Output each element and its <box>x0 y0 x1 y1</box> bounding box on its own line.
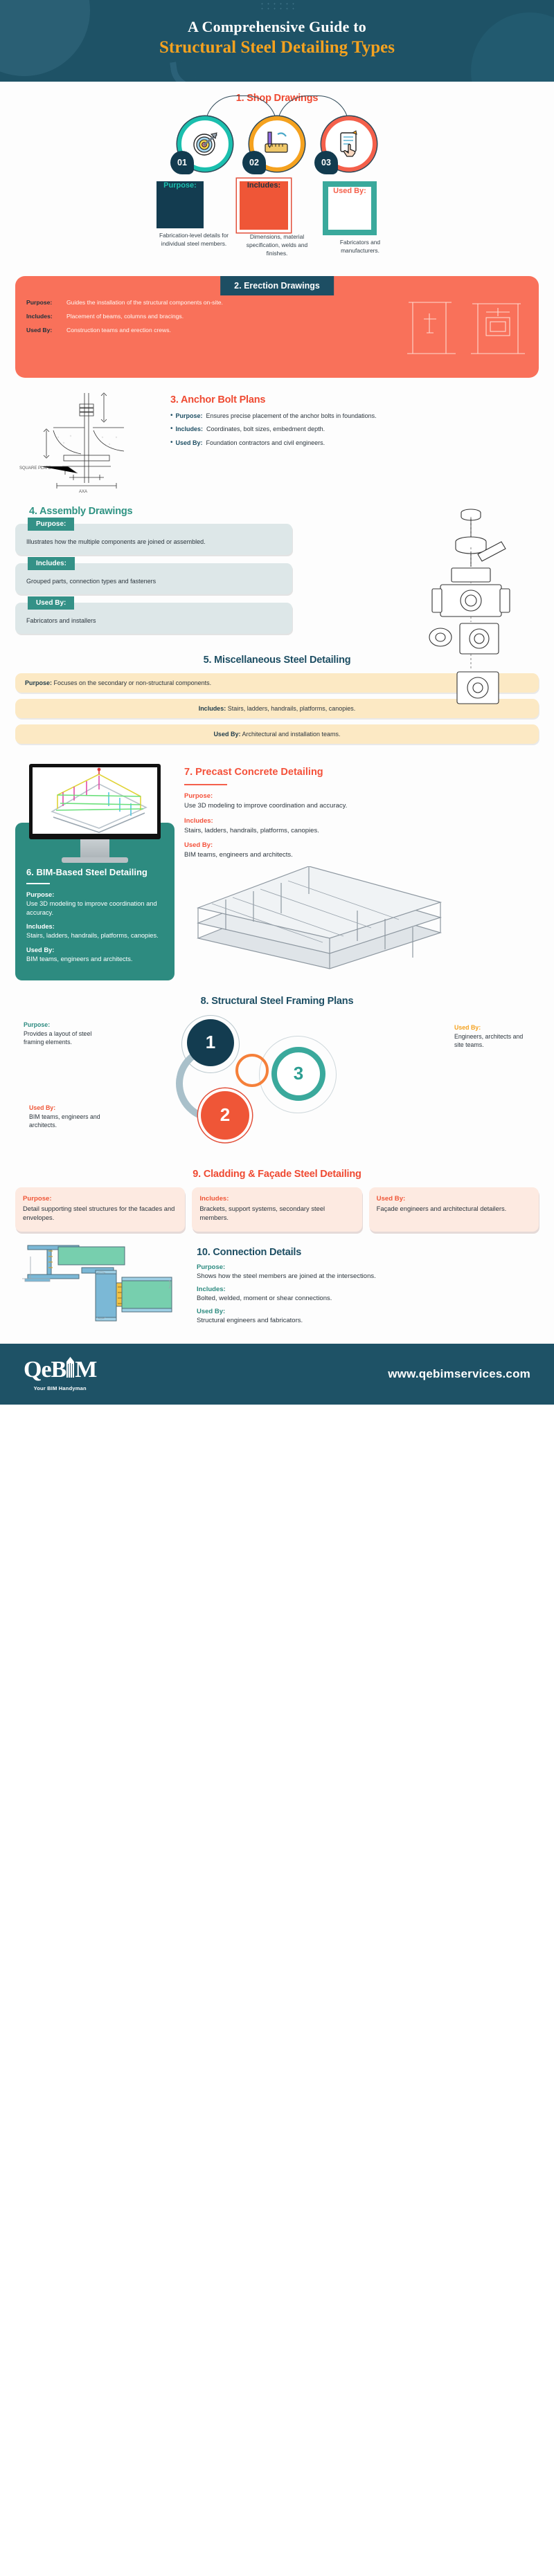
erection-row-usedby: Used By: Construction teams and erection… <box>26 326 396 334</box>
anchor-bullet-purpose: • Purpose: Ensures precise placement of … <box>170 412 539 421</box>
col-text-includes: Dimensions, material specification, weld… <box>240 232 314 258</box>
shop-drawings-step-circles: 01 02 03 <box>173 111 381 177</box>
row-key-usedby: Used By: <box>26 326 66 334</box>
framing-circle-3[interactable]: 3 <box>271 1047 325 1101</box>
bim-title-rule <box>26 883 50 885</box>
section-bim-and-precast: 6. BIM-Based Steel Detailing Purpose: Us… <box>0 758 554 989</box>
section-3-title: 3. Anchor Bolt Plans <box>170 394 539 405</box>
step-badge-2: 02 <box>242 151 266 174</box>
framing-key-usedby-bim: Used By: <box>29 1104 107 1112</box>
assembly-item-includes: Includes: Grouped parts, connection type… <box>15 563 292 594</box>
bim-key-purpose: Purpose: <box>26 891 163 898</box>
hand-click-document-icon <box>334 129 364 159</box>
section-8-title: 8. Structural Steel Framing Plans <box>15 996 539 1007</box>
step-badge-1: 01 <box>170 151 194 174</box>
bullet-dot-icon: • <box>170 425 173 434</box>
section-precast-concrete-detailing: 7. Precast Concrete Detailing Purpose: U… <box>184 764 539 970</box>
blueprint-ruler-icon <box>261 129 293 159</box>
shop-drawings-col-usedby: Used By: Fabricators and manufacturers. <box>319 181 402 258</box>
misc-value-usedby: Architectural and installation teams. <box>242 731 340 738</box>
page-title-line2: Structural Steel Detailing Types <box>0 38 554 57</box>
bim-key-includes: Includes: <box>26 923 163 930</box>
framing-note-purpose: Purpose: Provides a layout of steel fram… <box>24 1021 101 1047</box>
framing-circle-2[interactable]: 2 <box>201 1091 249 1140</box>
bim-key-usedby: Used By: <box>26 947 163 953</box>
erection-row-purpose: Purpose: Guides the installation of the … <box>26 298 396 307</box>
anchor-bullet-includes: • Includes: Coordinates, bolt sizes, emb… <box>170 425 539 434</box>
precast-structure-illustration <box>184 866 539 970</box>
conn-key-includes: Includes: <box>197 1286 539 1293</box>
col-label-usedby: Used By: <box>323 181 377 235</box>
framing-key-purpose: Purpose: <box>24 1021 101 1029</box>
section-framing-plans: 8. Structural Steel Framing Plans 1 3 2 … <box>0 989 554 1163</box>
bullet-key-purpose: Purpose: <box>176 412 203 421</box>
precast-key-purpose: Purpose: <box>184 792 539 800</box>
target-arrow-icon <box>190 129 220 159</box>
section-connection-details: 10. Connection Details Purpose: Shows ho… <box>0 1240 554 1344</box>
bullet-value-purpose: Ensures precise placement of the anchor … <box>206 412 377 421</box>
row-value-purpose: Guides the installation of the structura… <box>66 298 223 307</box>
cladding-value-purpose: Detail supporting steel structures for t… <box>23 1204 177 1223</box>
building-icon <box>66 1357 75 1384</box>
cladding-key-includes: Includes: <box>199 1195 354 1203</box>
misc-key-usedby: Used By: <box>213 731 240 738</box>
brand-logo[interactable]: QeB M Your BIM Handyman <box>24 1357 96 1391</box>
section-6-title: 6. BIM-Based Steel Detailing <box>26 867 163 878</box>
section-erection-drawings: 2. Erection Drawings Purpose: Guides the… <box>15 276 539 378</box>
misc-value-includes: Stairs, ladders, handrails, platforms, c… <box>228 705 356 712</box>
section-cladding-facade: 9. Cladding & Façade Steel Detailing Pur… <box>0 1163 554 1240</box>
bullet-key-usedby: Used By: <box>176 439 203 448</box>
precast-key-includes: Includes: <box>184 817 539 825</box>
cladding-card-purpose: Purpose: Detail supporting steel structu… <box>15 1187 185 1232</box>
section-7-title: 7. Precast Concrete Detailing <box>184 767 539 778</box>
row-key-includes: Includes: <box>26 312 66 320</box>
assembly-valve-illustration <box>374 502 547 723</box>
framing-circle-1[interactable]: 1 <box>187 1019 234 1066</box>
cladding-cards: Purpose: Detail supporting steel structu… <box>15 1187 539 1232</box>
conn-value-purpose: Shows how the steel members are joined a… <box>197 1272 539 1281</box>
precast-title-rule <box>184 784 227 785</box>
footer-bar: QeB M Your BIM Handyman www.qebimservice… <box>0 1344 554 1405</box>
shop-drawings-col-purpose: Purpose: Fabrication-level details for i… <box>152 181 235 258</box>
decorative-swoosh <box>170 60 197 82</box>
steel-frame-detail-icon <box>403 298 528 362</box>
monitor-neck <box>80 839 109 857</box>
section-bim-based-detailing: 6. BIM-Based Steel Detailing Purpose: Us… <box>15 764 175 980</box>
anchor-bullet-usedby: • Used By: Foundation contractors and ci… <box>170 439 539 448</box>
bim-3d-model-icon <box>33 767 157 834</box>
assembly-tag-includes: Includes: <box>28 557 75 570</box>
bullet-dot-icon: • <box>170 412 173 421</box>
row-value-usedby: Construction teams and erection crews. <box>66 326 171 334</box>
framing-value-usedby-eng: Engineers, architects and site teams. <box>454 1033 523 1048</box>
assembly-tag-purpose: Purpose: <box>28 518 74 531</box>
logo-letter-b: B <box>51 1357 66 1383</box>
anchor-bolt-illustration: SQUARE PLATE AXA <box>15 386 161 496</box>
assembly-item-usedby: Used By: Fabricators and installers <box>15 603 292 634</box>
label-axa: AXA <box>79 490 87 493</box>
assembly-items: Purpose: Illustrates how the multiple co… <box>15 524 292 634</box>
bim-value-includes: Stairs, ladders, handrails, platforms, c… <box>26 931 163 940</box>
conn-value-includes: Bolted, welded, moment or shear connecti… <box>197 1294 539 1303</box>
framing-value-usedby-bim: BIM teams, engineers and architects. <box>29 1113 100 1129</box>
framing-key-usedby-eng: Used By: <box>454 1023 532 1032</box>
exploded-valve-assembly-icon <box>374 502 547 723</box>
page-title-line1: A Comprehensive Guide to <box>0 18 554 36</box>
monitor-screen <box>33 767 157 834</box>
erection-drawings-rows: Purpose: Guides the installation of the … <box>26 298 396 365</box>
row-value-includes: Placement of beams, columns and bracings… <box>66 312 184 320</box>
bullet-dot-icon: • <box>170 439 173 448</box>
connection-details-text: 10. Connection Details Purpose: Shows ho… <box>197 1243 539 1331</box>
beam-column-connection-icon <box>15 1243 188 1333</box>
conn-value-usedby: Structural engineers and fabricators. <box>197 1316 539 1325</box>
anchor-bolt-diagram-icon: SQUARE PLATE AXA <box>15 389 157 493</box>
precast-key-usedby: Used By: <box>184 841 539 849</box>
conn-key-purpose: Purpose: <box>197 1263 539 1271</box>
framing-note-usedby-eng: Used By: Engineers, architects and site … <box>454 1023 532 1050</box>
conn-key-usedby: Used By: <box>197 1308 539 1315</box>
monitor-base <box>62 857 128 863</box>
assembly-item-purpose: Purpose: Illustrates how the multiple co… <box>15 524 292 555</box>
section-1-title: 1. Shop Drawings <box>0 93 554 104</box>
dot-grid-icon <box>259 1 295 12</box>
website-url[interactable]: www.qebimservices.com <box>388 1367 530 1381</box>
step-badge-3: 03 <box>314 151 338 174</box>
misc-value-purpose: Focuses on the secondary or non-structur… <box>54 679 212 686</box>
bullet-key-includes: Includes: <box>176 425 204 434</box>
precast-value-purpose: Use 3D modeling to improve coordination … <box>184 801 539 810</box>
bullet-value-usedby: Foundation contractors and civil enginee… <box>206 439 325 448</box>
framing-plans-diagram: 1 3 2 Purpose: Provides a layout of stee… <box>15 1015 539 1153</box>
monitor-bezel <box>29 764 161 839</box>
row-key-purpose: Purpose: <box>26 298 66 307</box>
framing-value-purpose: Provides a layout of steel framing eleme… <box>24 1030 91 1045</box>
col-label-purpose: Purpose: <box>157 181 204 228</box>
bim-value-purpose: Use 3D modeling to improve coordination … <box>26 899 163 917</box>
anchor-bolt-text: 3. Anchor Bolt Plans • Purpose: Ensures … <box>170 386 539 453</box>
cladding-card-includes: Includes: Brackets, support systems, sec… <box>192 1187 361 1232</box>
logo-tagline: Your BIM Handyman <box>34 1385 87 1391</box>
bim-value-usedby: BIM teams, engineers and architects. <box>26 955 163 964</box>
section-2-title: 2. Erection Drawings <box>220 276 334 295</box>
cladding-value-usedby: Façade engineers and architectural detai… <box>377 1204 531 1214</box>
precast-value-includes: Stairs, ladders, handrails, platforms, c… <box>184 826 539 835</box>
cladding-value-includes: Brackets, support systems, secondary ste… <box>199 1204 354 1223</box>
misc-bar-usedby: Used By: Architectural and installation … <box>15 724 539 744</box>
col-text-purpose: Fabrication-level details for individual… <box>157 231 231 248</box>
section-shop-drawings: 1. Shop Drawings <box>0 82 554 265</box>
misc-key-purpose: Purpose: <box>25 679 52 686</box>
cladding-key-usedby: Used By: <box>377 1195 531 1203</box>
logo-letter-q: Q <box>24 1357 41 1383</box>
assembly-tag-usedby: Used By: <box>28 596 74 610</box>
erection-row-includes: Includes: Placement of beams, columns an… <box>26 312 396 320</box>
col-label-includes: Includes: <box>240 181 288 230</box>
logo-letter-m: M <box>75 1357 96 1383</box>
header-banner: A Comprehensive Guide to Structural Stee… <box>0 0 554 82</box>
col-text-usedby: Fabricators and manufacturers. <box>323 238 397 255</box>
connection-detail-illustration <box>15 1243 188 1333</box>
cladding-card-usedby: Used By: Façade engineers and architectu… <box>369 1187 539 1232</box>
shop-drawings-columns: Purpose: Fabrication-level details for i… <box>152 181 402 258</box>
shop-drawings-col-includes: Includes: Dimensions, material specifica… <box>235 181 319 258</box>
section-assembly-drawings: 4. Assembly Drawings <box>0 502 554 649</box>
bullet-value-includes: Coordinates, bolt sizes, embedment depth… <box>206 425 325 434</box>
orange-ring-icon <box>235 1054 269 1087</box>
misc-key-includes: Includes: <box>199 705 226 712</box>
precast-concrete-frame-icon <box>184 866 461 970</box>
monitor-illustration <box>29 764 161 863</box>
precast-value-usedby: BIM teams, engineers and architects. <box>184 850 539 859</box>
infographic-page: A Comprehensive Guide to Structural Stee… <box>0 0 554 1405</box>
section-9-title: 9. Cladding & Façade Steel Detailing <box>15 1169 539 1180</box>
logo-wordmark: QeB M <box>24 1357 96 1384</box>
section-10-title: 10. Connection Details <box>197 1247 539 1258</box>
framing-note-usedby-bim: Used By: BIM teams, engineers and archit… <box>29 1104 107 1130</box>
section-anchor-bolt-plans: SQUARE PLATE AXA 3. Anchor Bolt Plans • … <box>0 378 554 502</box>
logo-letter-e: e <box>41 1357 51 1383</box>
cladding-key-purpose: Purpose: <box>23 1195 177 1203</box>
erection-drawing-illustration <box>403 298 528 365</box>
